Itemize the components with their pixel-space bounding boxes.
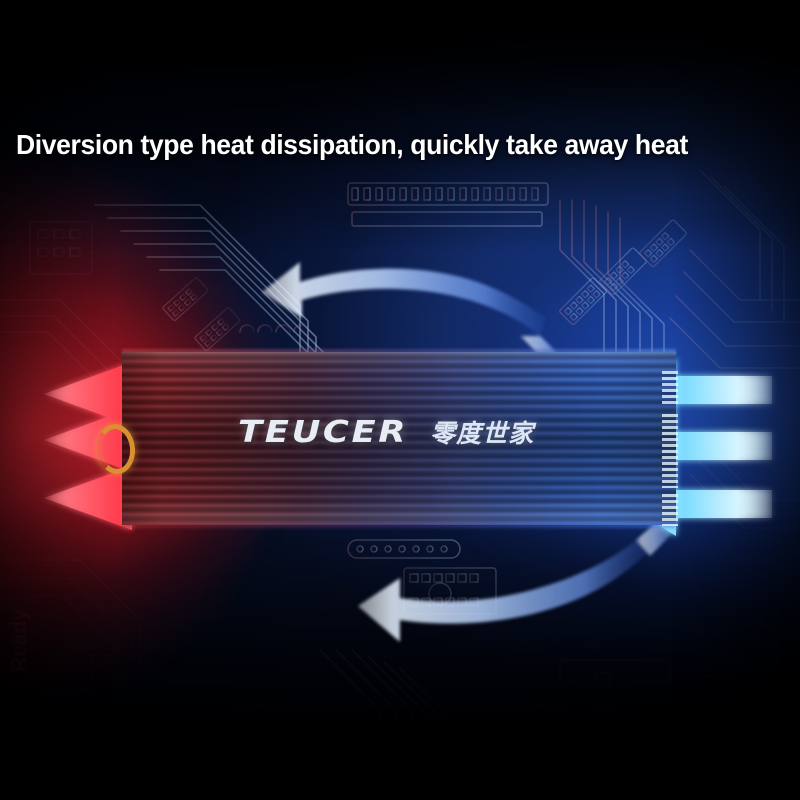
airflow-dash-segment-bottom bbox=[662, 494, 678, 526]
airflow-dash-segment-middle bbox=[662, 414, 678, 488]
brand-name-latin: TEUCER bbox=[238, 415, 408, 450]
brand-logo: TEUCER零度世家 bbox=[122, 414, 676, 450]
heatsink-product: TEUCER零度世家 bbox=[122, 352, 676, 525]
airflow-dash-segment-top bbox=[662, 371, 678, 407]
promo-image-canvas: Ready Diversion type heat dissipation, q… bbox=[0, 0, 800, 800]
page-title: Diversion type heat dissipation, quickly… bbox=[16, 128, 759, 162]
heatsink-bottom-edge bbox=[122, 523, 676, 528]
brand-name-cjk: 零度世家 bbox=[430, 419, 534, 448]
